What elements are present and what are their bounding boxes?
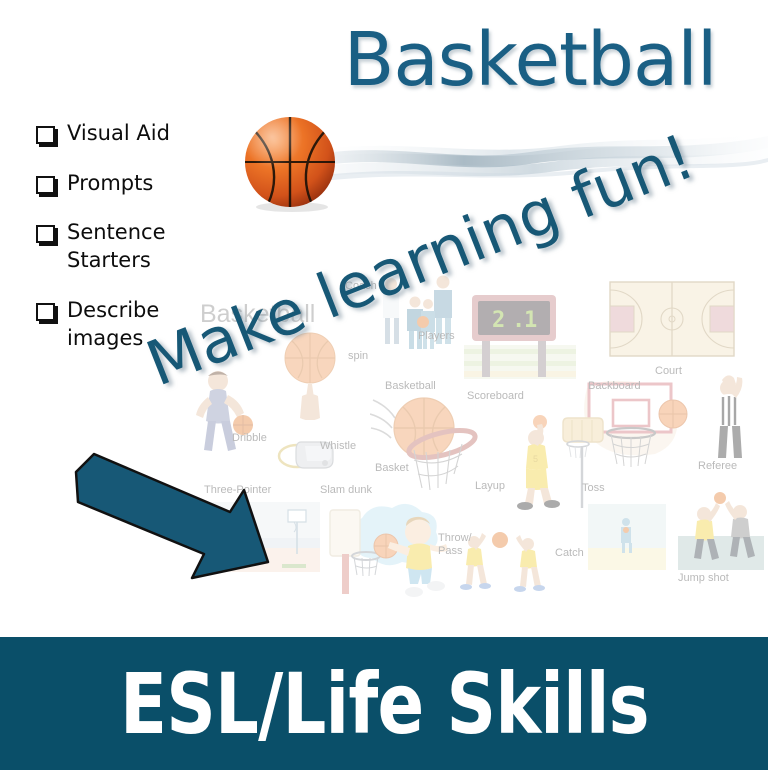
collage-label-toss: Toss [582, 482, 605, 495]
whistle-image [275, 432, 341, 478]
collage-label-basket: Basket [375, 462, 409, 475]
wave-decoration [300, 118, 768, 198]
collage-label-throw-pass: Throw/ Pass [438, 532, 472, 558]
checklist-item[interactable]: Prompts [36, 170, 236, 198]
collage-label-spin: spin [348, 350, 368, 363]
collage-heading: Basketball [200, 300, 315, 330]
collage-label-jump-shot: Jump shot [678, 572, 729, 585]
collage-label-coach: Coach [345, 280, 377, 293]
checkbox-icon[interactable] [36, 176, 55, 194]
collage-label-whistle: Whistle [320, 440, 356, 453]
svg-text:1: 1 [524, 308, 537, 333]
collage-label-three-pointer: Three-Pointer [204, 484, 271, 497]
banner-title: ESL/Life Skills [120, 662, 649, 746]
page-title: Basketball [300, 22, 760, 100]
collage-label-scoreboard: Scoreboard [467, 390, 524, 403]
bottom-banner: ESL/Life Skills [0, 637, 768, 770]
scoreboard-image: 2 . 1 [458, 287, 578, 397]
throw-pass-image [458, 528, 558, 592]
slam-dunk-image [318, 498, 458, 598]
collage-label-catch: Catch [555, 547, 584, 560]
collage-label-players: Players [418, 330, 455, 343]
checklist-item-label: Prompts [67, 170, 153, 198]
checkbox-icon[interactable] [36, 126, 55, 144]
jump-shot-image [678, 490, 764, 572]
court-image [608, 280, 736, 358]
ball-spin-image [280, 330, 340, 420]
vocabulary-collage: Basketball Coach Players spin [170, 262, 768, 620]
collage-label-referee: Referee [698, 460, 737, 473]
collage-label-slam-dunk: Slam dunk [320, 484, 372, 497]
svg-text:5: 5 [533, 454, 538, 464]
collage-label-layup: Layup [475, 480, 505, 493]
svg-text:2: 2 [492, 308, 505, 333]
collage-label-basketball: Basketball [385, 380, 436, 393]
checklist-item-label: Visual Aid [67, 120, 170, 148]
three-pointer-image [202, 502, 320, 572]
toss-image [588, 504, 666, 570]
checkbox-icon[interactable] [36, 303, 55, 321]
layup-image: 5 [510, 412, 610, 512]
collage-label-backboard: Backboard [588, 380, 641, 393]
checkbox-icon[interactable] [36, 225, 55, 243]
collage-label-dribble: Dribble [232, 432, 267, 445]
checklist-item[interactable]: Visual Aid [36, 120, 236, 148]
basketball-image [240, 112, 340, 212]
referee-image [702, 372, 756, 460]
